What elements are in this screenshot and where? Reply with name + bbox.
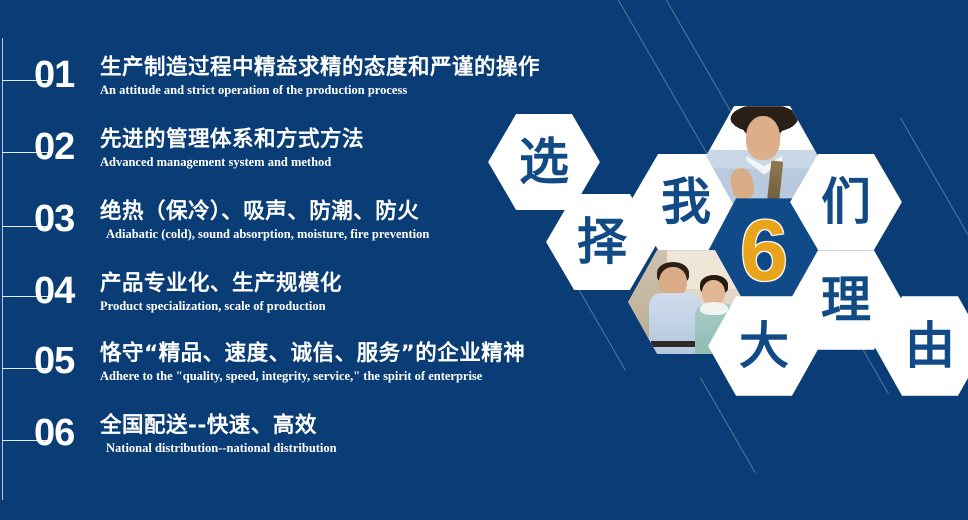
reason-title-en: An attitude and strict operation of the … <box>100 83 540 99</box>
diagonal-line-5 <box>900 118 968 248</box>
reason-item-04[interactable]: 04 产品专业化、生产规模化 Product specialization, s… <box>34 272 342 314</box>
hex-glyph: 择 <box>577 217 627 267</box>
hex-number-six: 6 <box>740 208 788 294</box>
reason-title-en: Adhere to the "quality, speed, integrity… <box>100 369 525 385</box>
reason-title-en: Advanced management system and method <box>100 155 364 171</box>
reason-title-cn: 绝热（保冷）、吸声、防潮、防火 <box>100 200 429 224</box>
banner-canvas: 01 生产制造过程中精益求精的态度和严谨的操作 An attitude and … <box>0 0 968 520</box>
timeline-rail <box>2 38 3 500</box>
reason-number: 04 <box>34 272 96 310</box>
photo-thumbs-up-hand <box>728 166 756 201</box>
reason-title-cn: 恪守“精品、速度、诚信、服务”的企业精神 <box>100 342 525 366</box>
reason-title-cn: 全国配送--快速、高效 <box>100 414 337 438</box>
reason-title-cn: 产品专业化、生产规模化 <box>100 272 342 296</box>
reason-title-cn: 生产制造过程中精益求精的态度和严谨的操作 <box>100 56 540 80</box>
reason-item-01[interactable]: 01 生产制造过程中精益求精的态度和严谨的操作 An attitude and … <box>34 56 540 98</box>
reason-title-en: National distribution--national distribu… <box>106 441 337 457</box>
photo-face <box>746 116 780 160</box>
reason-item-02[interactable]: 02 先进的管理体系和方式方法 Advanced management syst… <box>34 128 364 170</box>
reason-item-05[interactable]: 05 恪守“精品、速度、诚信、服务”的企业精神 Adhere to the "q… <box>34 342 525 384</box>
hex-glyph: 我 <box>661 177 711 227</box>
reason-number: 01 <box>34 56 96 94</box>
reason-number: 05 <box>34 342 96 380</box>
hex-glyph: 理 <box>821 275 871 325</box>
reason-title-cn: 先进的管理体系和方式方法 <box>100 128 364 152</box>
hex-glyph: 选 <box>519 137 569 187</box>
hex-glyph: 大 <box>739 321 789 371</box>
photo-person2-scarf <box>700 302 728 315</box>
reason-item-03[interactable]: 03 绝热（保冷）、吸声、防潮、防火 Adiabatic (cold), sou… <box>34 200 429 242</box>
reason-title-en: Adiabatic (cold), sound absorption, mois… <box>106 227 429 243</box>
reason-item-06[interactable]: 06 全国配送--快速、高效 National distribution--na… <box>34 414 337 456</box>
reason-title-en: Product specialization, scale of product… <box>100 299 342 315</box>
hex-glyph: 们 <box>821 177 871 227</box>
hex-glyph: 由 <box>905 321 955 371</box>
photo-person1-belt <box>651 341 697 347</box>
reason-number: 03 <box>34 200 96 238</box>
diagonal-line-1 <box>612 0 713 163</box>
reason-number: 06 <box>34 414 96 452</box>
reason-number: 02 <box>34 128 96 166</box>
